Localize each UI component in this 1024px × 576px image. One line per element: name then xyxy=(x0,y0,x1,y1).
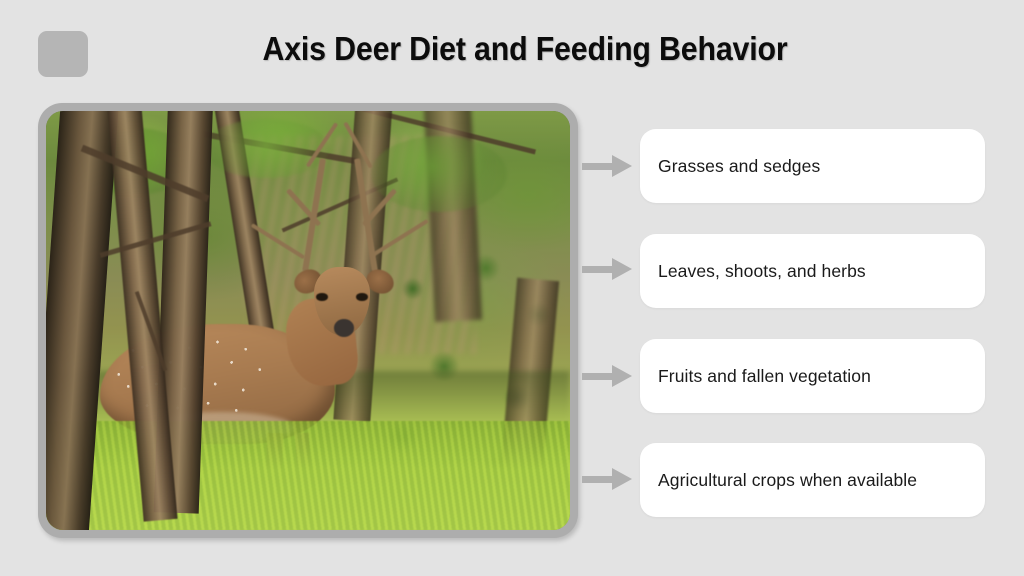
connector-arrow-icon xyxy=(582,468,634,490)
diet-card[interactable]: Agricultural crops when available xyxy=(640,443,985,517)
arrow-head xyxy=(612,155,632,177)
arrow-shaft xyxy=(582,373,614,380)
logo-placeholder xyxy=(38,31,88,77)
diet-card[interactable]: Grasses and sedges xyxy=(640,129,985,203)
connector-arrow-icon xyxy=(582,365,634,387)
leaf-clump xyxy=(203,119,329,178)
deer-eye xyxy=(356,293,368,301)
arrow-shaft xyxy=(582,163,614,170)
arrow-head xyxy=(612,365,632,387)
arrow-shaft xyxy=(582,476,614,483)
leaf-clump xyxy=(371,136,507,211)
diet-card-label: Leaves, shoots, and herbs xyxy=(658,260,866,282)
arrow-head xyxy=(612,258,632,280)
diet-card-label: Agricultural crops when available xyxy=(658,469,917,491)
arrow-head xyxy=(612,468,632,490)
arrow-shaft xyxy=(582,266,614,273)
diet-card-label: Grasses and sedges xyxy=(658,155,820,177)
photo-frame xyxy=(38,103,578,538)
page-title: Axis Deer Diet and Feeding Behavior xyxy=(143,30,907,68)
diet-card-label: Fruits and fallen vegetation xyxy=(658,365,871,387)
diet-card[interactable]: Leaves, shoots, and herbs xyxy=(640,234,985,308)
connector-arrow-icon xyxy=(582,258,634,280)
connector-arrow-icon xyxy=(582,155,634,177)
diet-card[interactable]: Fruits and fallen vegetation xyxy=(640,339,985,413)
deer-photo xyxy=(46,111,570,530)
grass-foreground xyxy=(46,421,570,530)
